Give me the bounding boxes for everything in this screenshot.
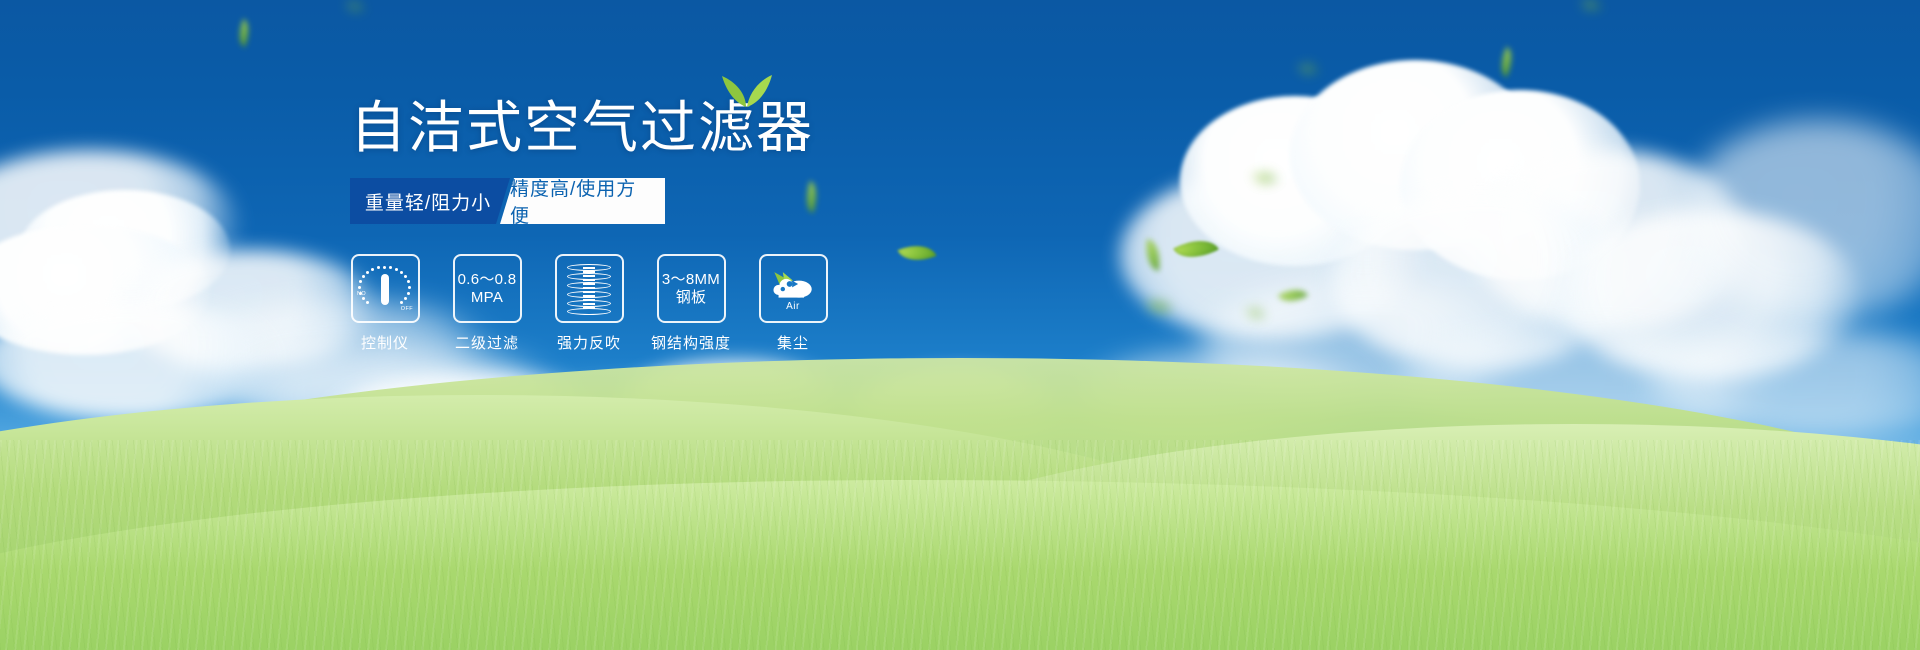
feature-box: Air (759, 254, 828, 323)
feature-controller[interactable]: NO OFF 控制仪 (350, 254, 420, 353)
badge-precision[interactable]: 精度高/使用方便 (500, 178, 665, 224)
feature-box: 3～8MM 钢板 (657, 254, 726, 323)
feature-list: NO OFF 控制仪 0.6～0.8 MPA 二级过滤 (350, 254, 970, 353)
badge-lightweight[interactable]: 重量轻/阻力小 (350, 178, 510, 224)
title-wrap: 自洁式空气过滤器 (350, 100, 814, 156)
feature-caption: 控制仪 (361, 332, 409, 353)
feature-dust[interactable]: Air 集尘 (758, 254, 828, 353)
page-title: 自洁式空气过滤器 (350, 100, 814, 156)
filter-stack-icon (567, 264, 611, 314)
feature-box: NO OFF (351, 254, 420, 323)
feature-backblow[interactable]: 强力反吹 (554, 254, 624, 353)
feature-caption: 强力反吹 (557, 332, 621, 353)
feature-box: 0.6～0.8 MPA (453, 254, 522, 323)
banner-content: 自洁式空气过滤器 重量轻/阻力小 精度高/使用方便 (350, 100, 970, 353)
feature-pressure[interactable]: 0.6～0.8 MPA 二级过滤 (452, 254, 522, 353)
feature-caption: 集尘 (777, 332, 809, 353)
gauge-label-off: OFF (401, 306, 413, 312)
air-label: Air (767, 301, 819, 312)
hero-banner: 自洁式空气过滤器 重量轻/阻力小 精度高/使用方便 (0, 0, 1920, 650)
gauge-label-no: NO (357, 291, 366, 297)
air-cloud-icon: Air (767, 267, 819, 311)
feature-box (555, 254, 624, 323)
feature-caption: 钢结构强度 (651, 332, 731, 353)
title-leaf-icon (716, 74, 776, 108)
feature-steel[interactable]: 3～8MM 钢板 钢结构强度 (656, 254, 726, 353)
gauge-icon: NO OFF (358, 265, 412, 313)
badge-group: 重量轻/阻力小 精度高/使用方便 (350, 178, 675, 224)
steel-plate-icon: 3～8MM 钢板 (662, 271, 720, 306)
pressure-icon: 0.6～0.8 MPA (458, 271, 517, 306)
feature-caption: 二级过滤 (455, 332, 519, 353)
